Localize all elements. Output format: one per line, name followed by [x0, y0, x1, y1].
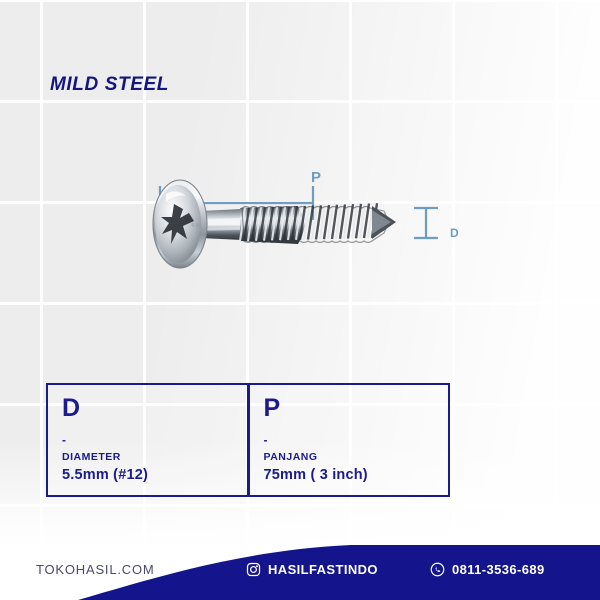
spec-value-diameter: 5.5mm (#12)	[62, 467, 247, 483]
page-title: MILD STEEL	[50, 74, 169, 96]
spec-cell-diameter: D - DIAMETER 5.5mm (#12)	[48, 385, 247, 495]
footer-whatsapp[interactable]: 0811-3536-689	[430, 562, 545, 577]
spec-cell-length: P - PANJANG 75mm ( 3 inch)	[247, 385, 449, 495]
footer-website[interactable]: TOKOHASIL.COM	[36, 562, 155, 577]
dimension-label-diameter: D	[450, 226, 459, 240]
footer-instagram-label: HASILFASTINDO	[268, 562, 378, 577]
dimension-line-diameter	[414, 208, 438, 238]
spec-code-length: P	[264, 396, 449, 421]
spec-key-diameter: DIAMETER	[62, 451, 247, 463]
spec-table: D - DIAMETER 5.5mm (#12) P - PANJANG 75m…	[46, 383, 450, 497]
spec-value-length: 75mm ( 3 inch)	[264, 467, 449, 483]
svg-text:4.8: 4.8	[191, 223, 199, 229]
product-spec-card: MILD STEEL	[0, 0, 600, 600]
instagram-icon	[246, 562, 261, 577]
spec-dash-diameter: -	[62, 434, 247, 446]
footer-instagram[interactable]: HASILFASTINDO	[246, 562, 378, 577]
footer-whatsapp-label: 0811-3536-689	[452, 562, 545, 577]
screw-graphic: 4.8	[153, 180, 396, 268]
spec-dash-length: -	[264, 434, 449, 446]
spec-key-length: PANJANG	[264, 451, 449, 463]
spec-code-diameter: D	[62, 396, 247, 421]
dimension-label-length: P	[311, 169, 322, 186]
whatsapp-icon	[430, 562, 445, 577]
